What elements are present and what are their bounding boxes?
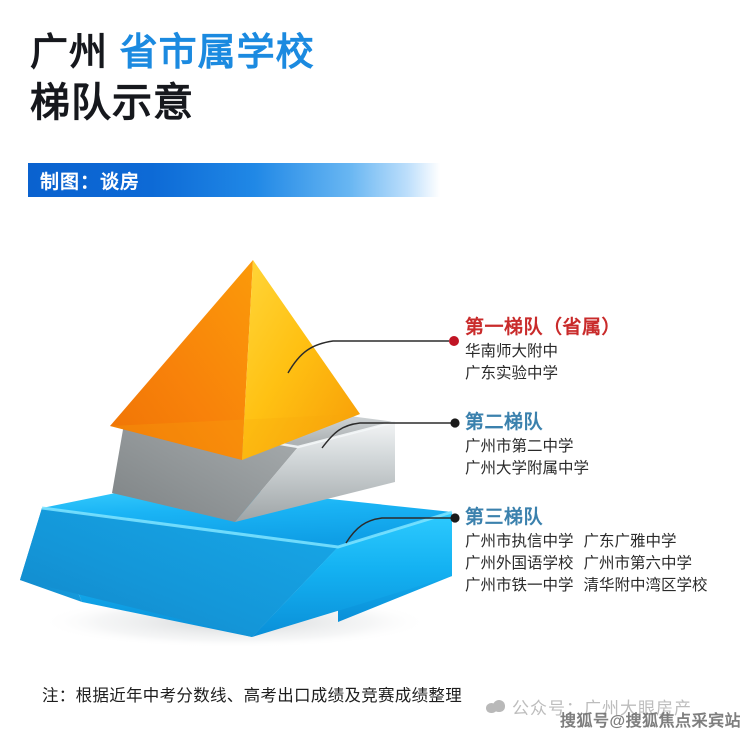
school-name: 广州市执信中学 [465, 533, 574, 550]
callout-tier-2: 第二梯队 广州市第二中学 广州大学附属中学 [465, 411, 737, 479]
tier-1-school-row: 华南师大附中 [465, 341, 737, 362]
tier-3-school-row: 广州外国语学校广州市第六中学 [465, 553, 737, 574]
school-name: 广州外国语学校 [465, 555, 574, 572]
school-name: 广州市铁一中学 [465, 577, 574, 594]
credit-label: 制图：谈房 [28, 167, 140, 194]
footer-note: 注：根据近年中考分数线、高考出口成绩及竞赛成绩整理 [42, 682, 462, 706]
title-city: 广州 [30, 32, 108, 74]
school-name: 广州大学附属中学 [465, 460, 589, 477]
credit-banner: 制图：谈房 [28, 163, 440, 197]
tier-2-title: 第二梯队 [465, 411, 737, 435]
cloud-logo-icon [486, 699, 505, 714]
school-name: 广东广雅中学 [584, 533, 677, 550]
tier-2-school-row: 广州大学附属中学 [465, 458, 737, 479]
title-category: 省市属学校 [120, 32, 315, 74]
tier-1-title: 第一梯队（省属） [465, 316, 737, 340]
title-line-one: 广州 省市属学校 [30, 30, 590, 76]
watermark-sohu: 搜狐号@搜狐焦点采宾站 [560, 707, 740, 731]
callout-tier-3: 第三梯队 广州市执信中学广东广雅中学 广州外国语学校广州市第六中学 广州市铁一中… [465, 506, 737, 596]
title-line-two: 梯队示意 [30, 78, 590, 128]
school-name: 广东实验中学 [465, 365, 558, 382]
infographic-page: 广州 省市属学校 梯队示意 制图：谈房 [0, 0, 740, 739]
school-name: 广州市第六中学 [584, 555, 693, 572]
school-name: 清华附中湾区学校 [584, 577, 708, 594]
tier-2-school-row: 广州市第二中学 [465, 436, 737, 457]
callout-tier-1: 第一梯队（省属） 华南师大附中 广东实验中学 [465, 316, 737, 384]
tier-3-school-row: 广州市铁一中学清华附中湾区学校 [465, 575, 737, 596]
tier-1-school-row: 广东实验中学 [465, 363, 737, 384]
school-name: 华南师大附中 [465, 343, 558, 360]
tier-3-school-row: 广州市执信中学广东广雅中学 [465, 531, 737, 552]
pyramid-svg [20, 250, 470, 650]
school-name: 广州市第二中学 [465, 438, 574, 455]
page-title: 广州 省市属学校 梯队示意 [30, 30, 590, 128]
tier-3-title: 第三梯队 [465, 506, 737, 530]
pyramid-graphic [20, 250, 470, 650]
